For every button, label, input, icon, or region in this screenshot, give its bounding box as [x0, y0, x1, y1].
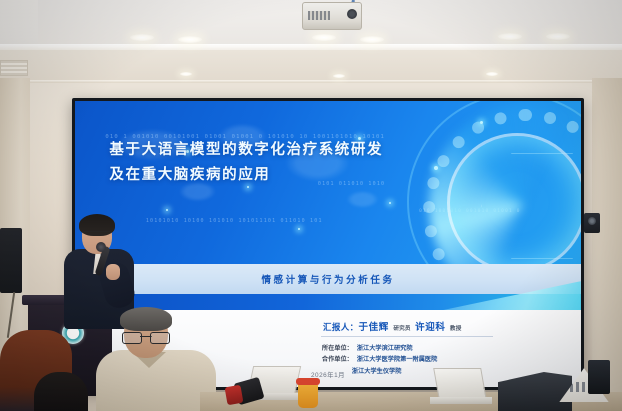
presenter-line: 汇报人：于佳辉 研究员 许迎科 教授 [323, 317, 462, 335]
laptop-keyboard [430, 397, 492, 404]
affiliation-row: 合作单位： 浙江大学医学院第一附属医院 [322, 354, 437, 363]
presenter-label: 汇报人： [323, 322, 359, 332]
air-vent [0, 60, 28, 76]
presenter-hand [106, 264, 120, 280]
slide-title: 基于大语言模型的数字化治疗系统研发 及在重大脑疾病的应用 [109, 138, 383, 188]
red-object-on-table [225, 385, 244, 406]
presenter-divider [321, 336, 493, 337]
glasses-lens-left [122, 332, 142, 344]
binary-text-3: 10101010 10100 101010 101011101 011010 1… [146, 218, 323, 224]
slide-subtitle-band: 情感计算与行为分析任务 [75, 264, 581, 294]
tech-circle-graphic [389, 101, 581, 264]
cup-lid [296, 378, 320, 385]
particle-dot [480, 121, 483, 124]
laptop-screen [433, 368, 487, 400]
ceiling-downlight [546, 33, 570, 40]
ceiling-downlight-small [333, 74, 345, 78]
microphone-head [96, 242, 106, 252]
ceiling-downlight-small [180, 72, 192, 76]
projector-vent [308, 11, 330, 20]
projector-lens-icon [347, 9, 357, 19]
attendee-glasses [122, 332, 170, 342]
conference-room-photo: 010 1 001010 00101001 01001 01001 0 1010… [0, 0, 622, 411]
presenter-glasses [84, 231, 110, 238]
affiliation-row: 所在单位： 浙江大学滨江研究院 [322, 343, 437, 352]
ceiling-downlight [130, 34, 154, 41]
presenter-role-2: 教授 [450, 326, 462, 332]
presenter-role-1: 研究员 [393, 326, 410, 332]
seated-attendee [96, 310, 216, 411]
ceiling-downlight [360, 36, 384, 43]
slide-subtitle: 情感计算与行为分析任务 [261, 272, 394, 286]
dark-object-right [588, 360, 610, 394]
affiliation-key-1: 所在单位： [322, 343, 353, 352]
glasses-lens-right [150, 332, 170, 344]
wall-camera [584, 213, 600, 233]
ceiling-downlight [178, 36, 202, 43]
ceiling-downlight [498, 33, 522, 40]
soffit-edge [0, 80, 622, 83]
ceiling-downlight-small [486, 72, 498, 76]
camera-lens-icon [588, 217, 596, 225]
particle-dot [166, 209, 168, 211]
presenter-name-2: 许迎科 [415, 322, 445, 333]
slide-title-line-2: 及在重大脑疾病的应用 [109, 163, 383, 188]
slide-upper-blue-area: 010 1 001010 00101001 01001 01001 0 1010… [75, 101, 581, 264]
laptop-right [430, 368, 492, 404]
attendee-hair [120, 307, 172, 331]
slide-title-line-1: 基于大语言模型的数字化治疗系统研发 [109, 138, 383, 163]
ceiling-downlight [312, 34, 336, 41]
presenter-name-1: 于佳辉 [359, 322, 389, 333]
particle-dot [298, 228, 300, 230]
particle-dot [389, 202, 391, 204]
ceiling-lower-band [0, 50, 622, 82]
affiliation-key-2: 合作单位： [322, 354, 353, 363]
affiliation-value-1: 浙江大学滨江研究院 [357, 343, 413, 352]
beverage-cup [298, 382, 318, 408]
wall-speaker [0, 228, 22, 293]
ceiling-projector [302, 2, 362, 30]
affiliation-value-2: 浙江大学医学院第一附属医院 [357, 354, 437, 363]
foreground-attendee-head [34, 372, 88, 411]
